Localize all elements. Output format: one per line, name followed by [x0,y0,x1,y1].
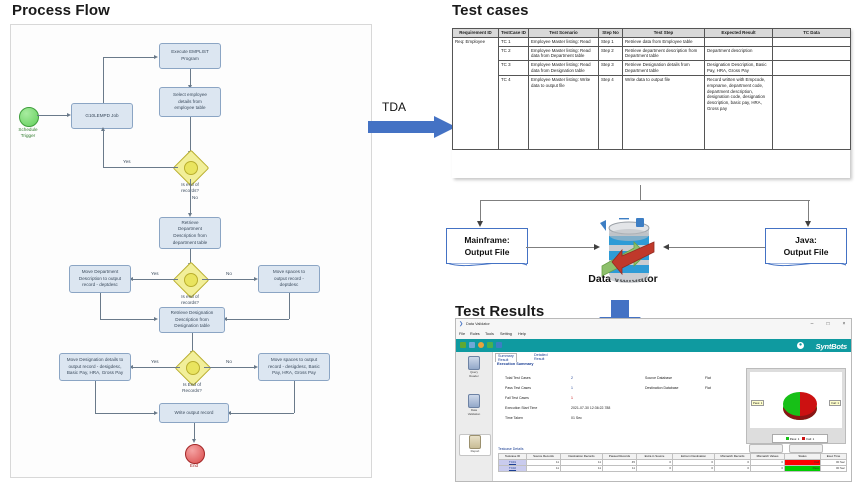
table-row: TC 3 Employee Master listing: Read data … [453,61,851,76]
pie-chart-icon [779,386,821,422]
refresh-icon[interactable] [469,342,475,348]
edge-spacedept-down [289,293,290,319]
tda-label: TDA [382,100,406,114]
arrowhead [805,221,811,227]
node-decision-2-label: Is end ofrecords? [165,294,215,306]
tda-arrow-group: TDA [368,100,456,144]
cell-test-scenario: Employee Master listing: Read data from … [529,46,599,61]
col-tc-data: TC Data [773,29,851,38]
edge-label-no-1: No [192,195,198,201]
data-validation-icon [468,394,480,408]
edge-movedesig-down [95,381,96,413]
label-destination-database: Destination Database [645,386,678,390]
app-titlebar: ❯ Data Validator – □ × [456,319,851,330]
cell-requirement-id: Req: Employee [453,37,499,149]
database-icon [600,218,658,284]
lock-icon[interactable] [496,342,502,348]
menu-item-rules[interactable]: Rules [470,332,480,336]
cell-step-no: Step 4 [599,75,623,149]
summary-chart-panel: Summary Pass: 1 Fail: 1 Pass: 1 Fail [746,368,846,444]
edge-mainframe-to-validator [526,247,595,248]
col-expected-result: Expected Result [705,29,773,38]
edge-job-up [103,57,104,103]
edge-label-no-3: No [226,359,232,365]
download-icon[interactable] [487,342,493,348]
edge-start-to-job [37,115,69,116]
node-schedule-trigger [19,107,39,127]
app-sidebar: QueryReader DataValidation Report [456,352,493,481]
col-step-no: Step No [599,29,623,38]
menu-item-tools[interactable]: Tools [485,332,494,336]
cell-expected-result [705,37,773,46]
decision-inner-1 [184,161,198,175]
cell-testcase-id-link[interactable]: TC02 [499,466,527,472]
settings-icon[interactable] [478,342,484,348]
cell-test-scenario: Employee Master listing: Read [529,37,599,46]
menu-item-file[interactable]: File [459,332,465,336]
col-requirement-id: Requirement ID [453,29,499,38]
sidebar-item-label: DataValidation [459,409,489,416]
edge-dec1-no [190,179,191,215]
mainframe-box-line2: Output File [465,246,510,258]
mainframe-output-file-box: Mainframe: Output File [446,228,528,264]
legend-entry-pass: Pass: 1 [786,437,800,441]
sidebar-item-query-reader[interactable]: QueryReader [459,356,489,378]
status-badge: Pass [785,466,821,472]
cell-tc-data [773,37,851,46]
query-reader-icon [468,356,480,370]
edge-spacedesig-down [294,381,295,413]
tab-summary-result[interactable]: Summary Result [495,353,517,362]
value-total-test-cases: 2 [571,376,573,380]
node-retrieve-designation-description: Retrieve DesignationDescription fromDesi… [159,307,225,333]
edge-dec1-yes-up [103,129,104,167]
edge-movedept-down [100,293,101,319]
arrowhead [154,317,158,321]
syntbots-logo-icon: ● [797,342,804,349]
maximize-button[interactable]: □ [824,321,832,327]
node-schedule-trigger-label: ScheduleTrigger [11,127,45,139]
cell-test-scenario: Employee Master listing: Write data to o… [529,75,599,149]
cell-mismatch-records: 0 [715,466,751,472]
cell-step-no: Step 1 [599,37,623,46]
pie-label-fail: Fail: 1 [829,400,841,406]
label-total-test-cases: Total Test Cases [505,376,531,380]
label-execution-start-time: Execution Start Time [505,406,537,410]
summary-chart-legend: Pass: 1 Fail: 1 [772,434,828,443]
cell-testcase-id: TC 3 [499,61,529,76]
cell-destination-records: 11 [561,466,603,472]
cell-extra-in-source: 0 [637,466,673,472]
node-g10lempd-job: G10LEMPD Job [71,103,133,129]
process-flow-panel: ScheduleTrigger G10LEMPD Job Execute EMP… [10,24,372,478]
edge-movedesig-right [95,413,155,414]
edge-label-yes-3: Yes [151,359,159,365]
cell-step-no: Step 2 [599,46,623,61]
node-end [185,444,205,464]
decision-inner-3 [186,361,200,375]
value-execution-start-time: 2021-07-30 12:36:22.788 [571,406,610,410]
query-icon[interactable] [460,342,466,348]
cell-test-step: Retrieve Designation details from Depart… [623,61,705,76]
cell-extra-in-destination: 0 [673,466,715,472]
cell-passed-records: 11 [603,466,637,472]
document-flap-icon [447,263,527,270]
cell-testcase-id: TC 2 [499,46,529,61]
slide-canvas: Process Flow Test cases Test Results Sch… [0,0,855,483]
bus-line-horizontal [480,200,810,201]
cell-tc-data [773,61,851,76]
bus-line-right-down [808,200,809,222]
arrowhead [477,221,483,227]
process-flow-title: Process Flow [12,2,110,19]
close-button[interactable]: × [840,321,848,327]
java-box-line2: Output File [784,246,829,258]
test-cases-table: Requirement ID TestCase ID Test Scenario… [452,28,851,150]
syntbots-brand: SyntBots [816,342,847,351]
node-end-label: End [177,463,211,469]
node-move-department-description: Move DepartmentDescription to outputreco… [69,265,131,293]
minimize-button[interactable]: – [808,321,816,327]
label-source-database: Source Database [645,376,672,380]
test-cases-table-wrapper: Requirement ID TestCase ID Test Scenario… [452,28,850,178]
value-time-taken: 01 Sec [571,416,582,420]
bus-line-center-up [640,185,641,201]
cell-tc-data [773,46,851,61]
value-pass-test-cases: 1 [571,386,573,390]
edge-dec2-no [202,279,255,280]
node-select-employee-details: Select employeedetails fromemployee tabl… [159,87,221,117]
cell-test-step: Retrieve data from Employee table [623,37,705,46]
tda-arrow-icon [368,116,456,138]
cell-test-step: Write data to output file [623,75,705,149]
cell-tc-data [773,75,851,149]
edge-label-yes-2: Yes [151,271,159,277]
node-execute-emplist-program: Execute EMPLISTProgram [159,43,221,69]
table-row: Req: Employee TC 1 Employee Master listi… [453,37,851,46]
edge-select-to-dec1 [190,117,191,153]
export-button[interactable] [749,444,783,453]
bus-line-left-down [480,200,481,222]
cell-testcase-id: TC 1 [499,37,529,46]
table-row: TC02 11 11 11 0 0 0 0 Pass 00 Sec [499,466,847,472]
cell-source-records: 11 [527,466,561,472]
menu-item-help[interactable]: Help [518,332,526,336]
cell-step-no: Step 3 [599,61,623,76]
label-fail-test-cases: Fail Test Cases [505,396,529,400]
edge-dec3-yes [131,367,180,368]
cell-expected-result: Department description [705,46,773,61]
execution-summary-heading: Execution Summary [497,362,534,366]
node-decision-3-label: Is End ofRecords? [167,382,217,394]
cell-test-scenario: Employee Master listing: Read data from … [529,61,599,76]
edge-spacedesig-left [229,413,294,414]
app-content-area: Summary Result Detailed Result Execution… [493,352,851,481]
value-source-database: Flat [705,376,711,380]
arrowhead [101,127,105,131]
app-toolbar: ● SyntBots [456,339,851,352]
node-retrieve-department-description: RetrieveDepartmentDescription fromdepart… [159,217,221,249]
node-move-spaces-desigdesc: Move spaces to outputrecord - desigdesc,… [258,353,330,381]
cell-mismatch-values: 0 [751,466,785,472]
node-write-output-record: Write output record [159,403,229,423]
legend-entry-fail: Fail: 1 [802,437,814,441]
summary-chart-plot: Pass: 1 Fail: 1 Pass: 1 Fail: 1 [750,372,842,428]
edge-job-to-exec [103,57,155,58]
edge-label-no-2: No [226,271,232,277]
cell-exec-time: 00 Sec [821,466,847,472]
arrowhead [192,439,196,443]
decision-inner-2 [184,273,198,287]
menu-item-setting[interactable]: Setting [500,332,512,336]
testcase-details-heading: Testcase Details [498,447,523,451]
label-pass-test-cases: Pass Test Cases [505,386,531,390]
edge-label-yes-1: Yes [123,159,131,165]
node-move-spaces-deptdesc: Move spaces tooutput record -deptdesc [258,265,320,293]
edge-dec1-yes [103,167,178,168]
value-destination-database: Flat [705,386,711,390]
refresh-button[interactable] [789,444,823,453]
table-row: TC 4 Employee Master listing: Write data… [453,75,851,149]
col-test-step: Test Step [623,29,705,38]
testcase-details-table: Testcase ID Source Records Destination R… [498,453,847,472]
test-cases-title: Test cases [452,2,529,19]
pie-label-pass: Pass: 1 [751,400,764,406]
cell-expected-result: Designation Description, Basic Pay, HRA,… [705,61,773,76]
sidebar-item-report[interactable]: Report [459,434,491,456]
sidebar-item-label: QueryReader [459,371,489,378]
value-fail-test-cases: 1 [571,396,573,400]
label-time-taken: Time Taken [505,416,523,420]
node-move-designation-details: Move Designation details tooutput record… [59,353,131,381]
edge-dec2-yes [131,279,178,280]
mainframe-box-line1: Mainframe: [464,234,509,246]
table-row: TC 2 Employee Master listing: Read data … [453,46,851,61]
cell-test-step: Retrieve department description from Dep… [623,46,705,61]
data-validator-app-window: ❯ Data Validator – □ × File Rules Tools … [455,318,852,482]
report-icon [469,435,481,449]
app-logo-icon: ❯ [459,322,464,327]
col-testcase-id: TestCase ID [499,29,529,38]
table-header-row: Requirement ID TestCase ID Test Scenario… [453,29,851,38]
edge-java-to-validator [668,247,765,248]
tab-detailed-result[interactable]: Detailed Result [532,353,550,361]
document-flap-icon [766,263,846,270]
sidebar-item-label: Report [460,450,490,454]
cell-expected-result: Record written with Empcode, empname, de… [705,75,773,149]
arrowhead [154,411,158,415]
col-test-scenario: Test Scenario [529,29,599,38]
arrowhead [154,55,158,59]
sidebar-item-data-validation[interactable]: DataValidation [459,394,489,416]
app-window-title: Data Validator [466,322,490,326]
cell-testcase-id: TC 4 [499,75,529,149]
java-output-file-box: Java: Output File [765,228,847,264]
edge-dec3-no [204,367,255,368]
edge-movedept-right [100,319,155,320]
arrowhead [663,244,669,250]
edge-spacedept-left [225,319,289,320]
java-box-line1: Java: [795,234,817,246]
